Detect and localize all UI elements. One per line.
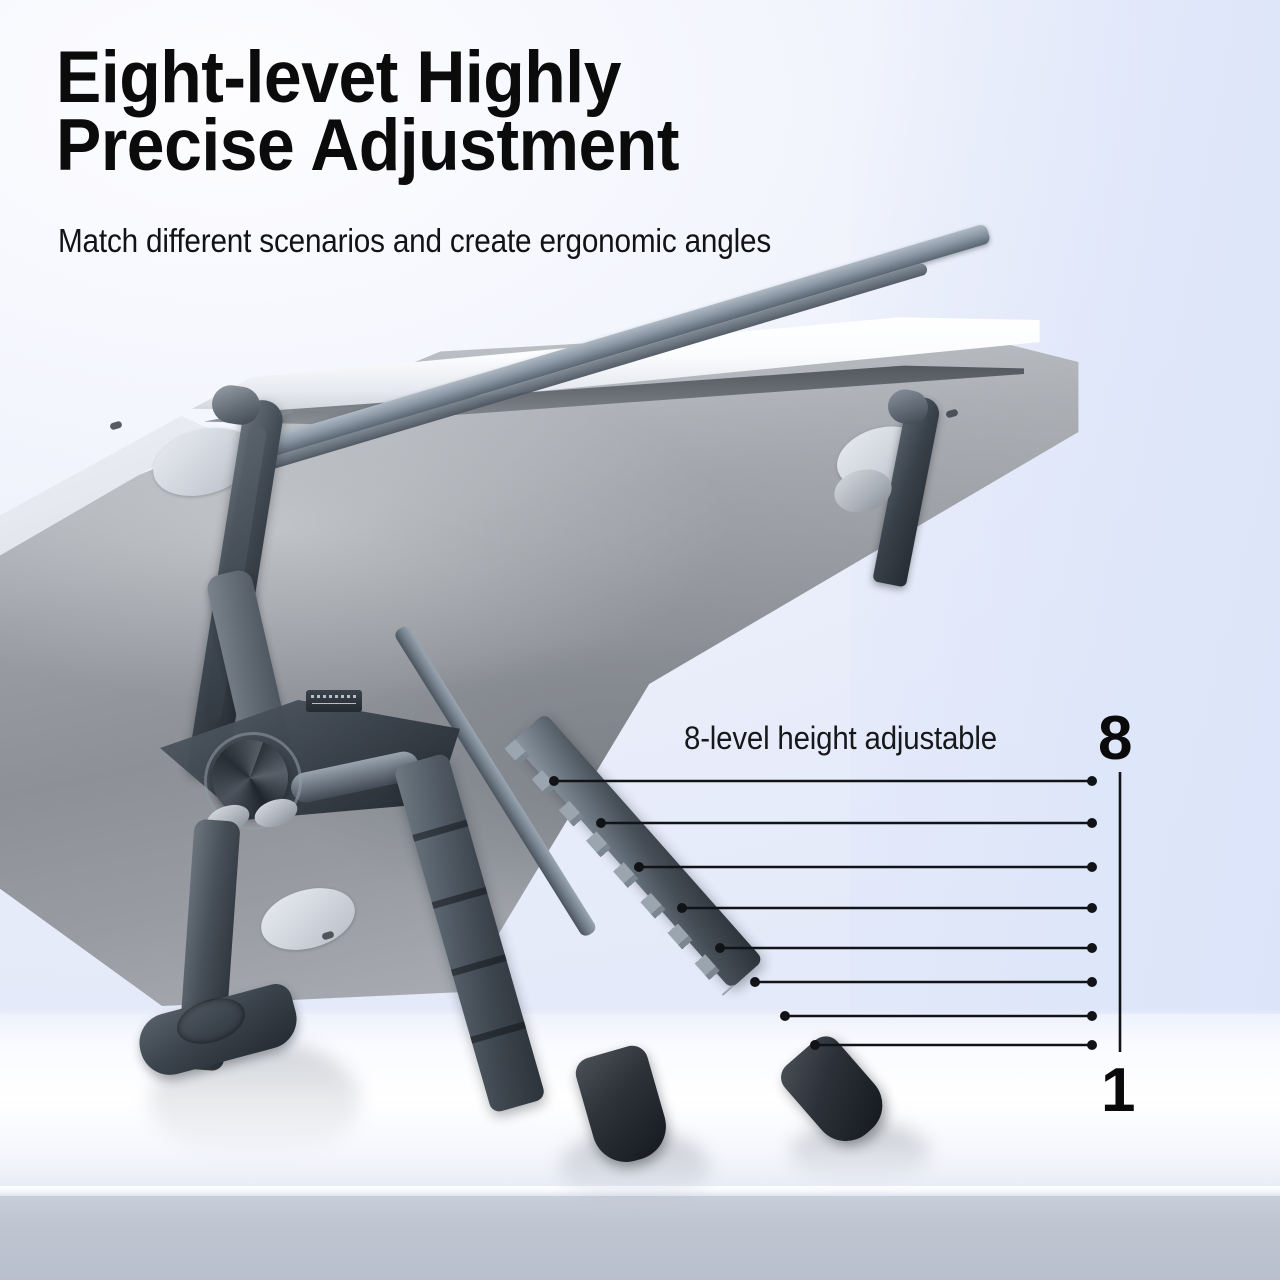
leader-dot [1087, 776, 1097, 786]
product-marketing-image: Eight-levet Highly Precise Adjustment Ma… [0, 0, 1280, 1280]
leader-dot [1087, 862, 1097, 872]
level-min-number: 1 [1101, 1060, 1134, 1122]
level-max-number: 8 [1098, 708, 1131, 770]
leader-dot [1087, 818, 1097, 828]
leader-dot [677, 903, 687, 913]
leader-dot [1087, 1011, 1097, 1021]
leader-dot [596, 818, 606, 828]
leader-dot [810, 1040, 820, 1050]
leader-dot [549, 776, 559, 786]
level-leader-lines [0, 0, 1280, 1280]
leader-dot [750, 977, 760, 987]
leader-dot [715, 943, 725, 953]
level-callout-label: 8-level height adjustable [684, 720, 997, 757]
leader-dot [634, 862, 644, 872]
leader-dot [1087, 903, 1097, 913]
leader-dot [780, 1011, 790, 1021]
leader-dot [1087, 943, 1097, 953]
leader-dot [1087, 977, 1097, 987]
leader-dot [1087, 1040, 1097, 1050]
